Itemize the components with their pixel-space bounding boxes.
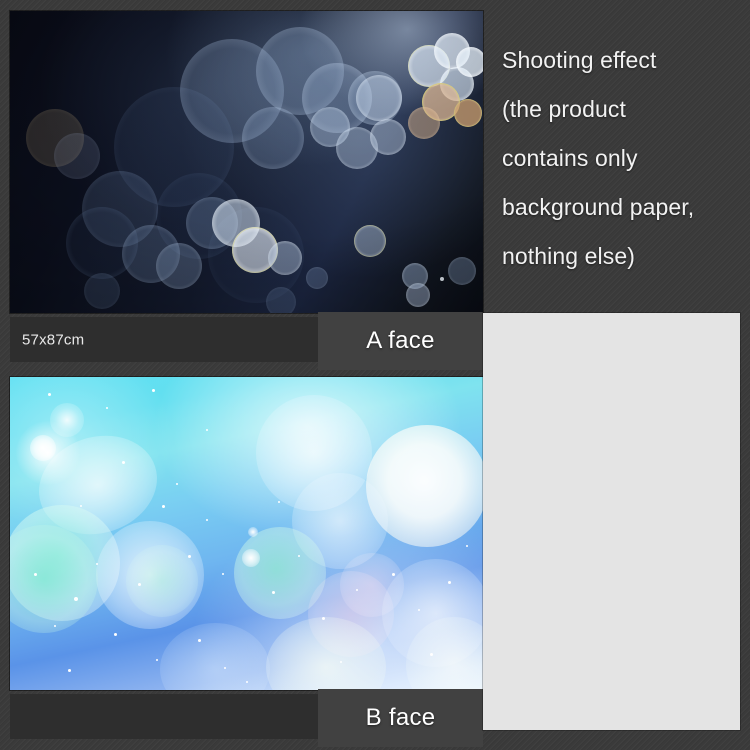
- headline-text: Shooting effect (the product contains on…: [502, 36, 742, 281]
- bokeh-art-bright: [10, 377, 483, 690]
- sample-photo-a-face[interactable]: [10, 11, 483, 313]
- caption-bar-b: [10, 694, 318, 739]
- dimension-label-a: 57x87cm: [22, 331, 84, 348]
- face-label-block-b: B face: [318, 689, 483, 747]
- face-label-b: B face: [366, 704, 436, 732]
- plain-grey-sample-panel[interactable]: [483, 313, 740, 730]
- bokeh-art-dark: [10, 11, 483, 313]
- face-label-block-a: A face: [318, 312, 483, 370]
- caption-bar-a: 57x87cm: [10, 317, 318, 362]
- sample-photo-b-face[interactable]: [10, 377, 483, 690]
- face-label-a: A face: [366, 327, 435, 355]
